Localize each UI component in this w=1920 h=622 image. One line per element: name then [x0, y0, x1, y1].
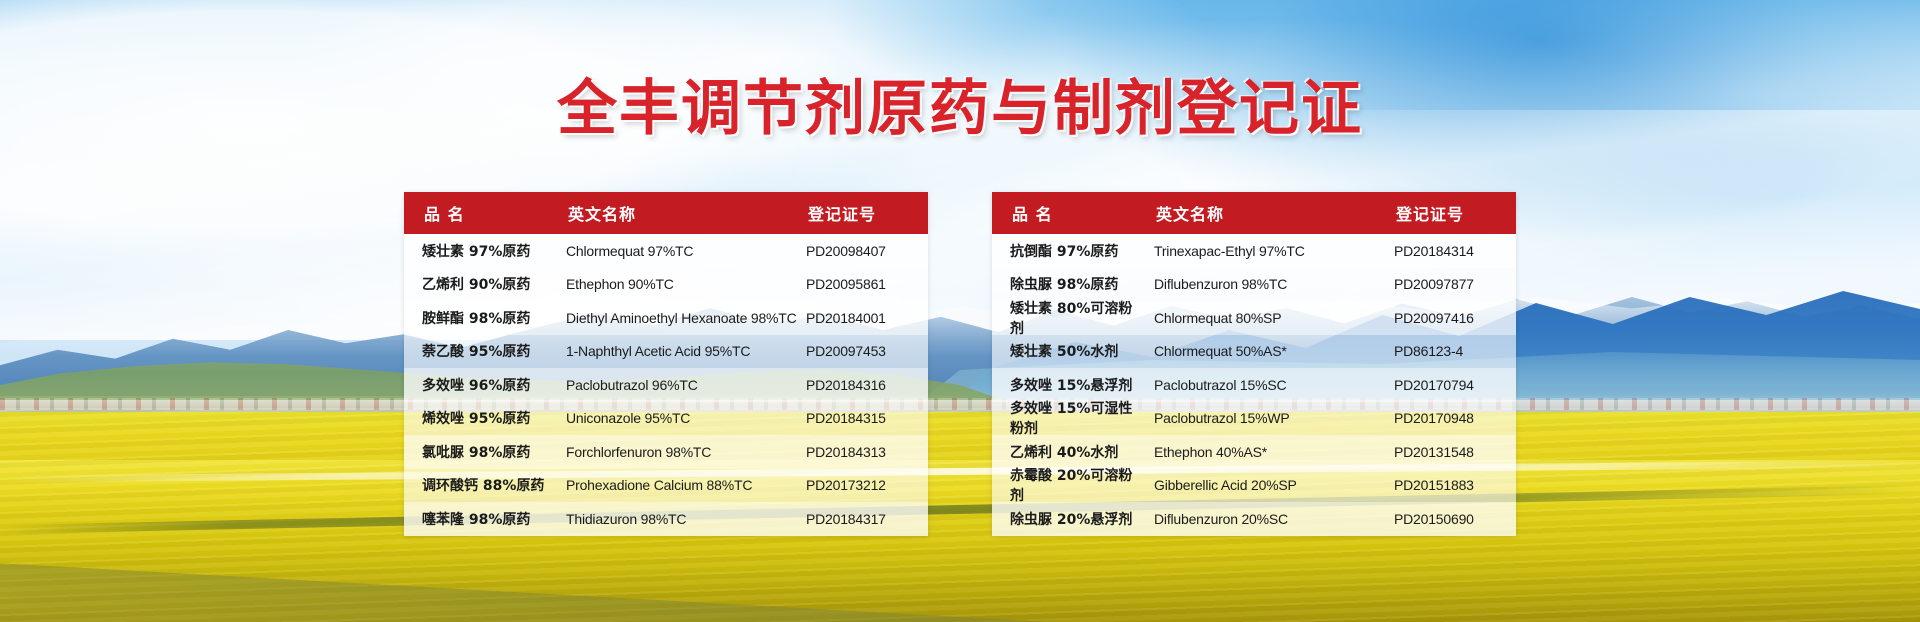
table-row: 赤霉酸 20%可溶粉剂Gibberellic Acid 20%SPPD20151… — [992, 469, 1516, 503]
cell-registration-no: PD20170948 — [1388, 410, 1516, 426]
cell-english-name: Ethephon 90%TC — [556, 276, 800, 292]
cell-registration-no: PD20173212 — [800, 477, 928, 493]
cell-product-name: 乙烯利 90%原药 — [404, 274, 556, 294]
table-row: 乙烯利 40%水剂Ethephon 40%AS*PD20131548 — [992, 435, 1516, 469]
column-header-name: 品 名 — [992, 201, 1144, 225]
cell-registration-no: PD86123-4 — [1388, 343, 1516, 359]
cell-registration-no: PD20131548 — [1388, 444, 1516, 460]
cell-registration-no: PD20184316 — [800, 377, 928, 393]
cell-product-name: 胺鲜酯 98%原药 — [404, 308, 556, 328]
cell-registration-no: PD20098407 — [800, 243, 928, 259]
table-row: 多效唑 96%原药Paclobutrazol 96%TCPD20184316 — [404, 368, 928, 402]
cell-product-name: 除虫脲 98%原药 — [992, 274, 1144, 294]
table-row: 烯效唑 95%原药Uniconazole 95%TCPD20184315 — [404, 402, 928, 436]
cell-product-name: 除虫脲 20%悬浮剂 — [992, 509, 1144, 529]
cell-product-name: 萘乙酸 95%原药 — [404, 341, 556, 361]
cell-registration-no: PD20170794 — [1388, 377, 1516, 393]
cell-english-name: Ethephon 40%AS* — [1144, 444, 1388, 460]
cell-registration-no: PD20150690 — [1388, 511, 1516, 527]
cell-product-name: 矮壮素 97%原药 — [404, 241, 556, 261]
cell-english-name: Diflubenzuron 20%SC — [1144, 511, 1388, 527]
table-row: 除虫脲 20%悬浮剂Diflubenzuron 20%SCPD20150690 — [992, 502, 1516, 536]
column-header-registration: 登记证号 — [1388, 201, 1516, 225]
left-table-header-row: 品 名 英文名称 登记证号 — [404, 192, 928, 234]
cell-english-name: 1-Naphthyl Acetic Acid 95%TC — [556, 343, 800, 359]
cell-english-name: Thidiazuron 98%TC — [556, 511, 800, 527]
banner-stage: 全丰调节剂原药与制剂登记证 品 名 英文名称 登记证号 矮壮素 97%原药Chl… — [0, 0, 1920, 622]
column-header-registration: 登记证号 — [800, 201, 928, 225]
cell-registration-no: PD20184313 — [800, 444, 928, 460]
cell-english-name: Chlormequat 80%SP — [1144, 310, 1388, 326]
cell-registration-no: PD20184317 — [800, 511, 928, 527]
cell-product-name: 调环酸钙 88%原药 — [404, 475, 556, 495]
table-row: 噻苯隆 98%原药Thidiazuron 98%TCPD20184317 — [404, 502, 928, 536]
cell-english-name: Paclobutrazol 96%TC — [556, 377, 800, 393]
cell-english-name: Chlormequat 50%AS* — [1144, 343, 1388, 359]
table-row: 乙烯利 90%原药Ethephon 90%TCPD20095861 — [404, 268, 928, 302]
table-row: 除虫脲 98%原药Diflubenzuron 98%TCPD20097877 — [992, 268, 1516, 302]
right-table-body: 抗倒酯 97%原药Trinexapac-Ethyl 97%TCPD2018431… — [992, 234, 1516, 536]
table-row: 氯吡脲 98%原药Forchlorfenuron 98%TCPD20184313 — [404, 435, 928, 469]
left-table-body: 矮壮素 97%原药Chlormequat 97%TCPD20098407乙烯利 … — [404, 234, 928, 536]
table-row: 矮壮素 50%水剂Chlormequat 50%AS*PD86123-4 — [992, 335, 1516, 369]
certificate-tables: 品 名 英文名称 登记证号 矮壮素 97%原药Chlormequat 97%TC… — [404, 192, 1516, 536]
cell-product-name: 多效唑 15%悬浮剂 — [992, 375, 1144, 395]
cell-english-name: Trinexapac-Ethyl 97%TC — [1144, 243, 1388, 259]
cell-english-name: Diethyl Aminoethyl Hexanoate 98%TC — [556, 310, 800, 326]
table-row: 矮壮素 97%原药Chlormequat 97%TCPD20098407 — [404, 234, 928, 268]
cell-product-name: 烯效唑 95%原药 — [404, 408, 556, 428]
cell-registration-no: PD20097877 — [1388, 276, 1516, 292]
table-row: 多效唑 15%悬浮剂Paclobutrazol 15%SCPD20170794 — [992, 368, 1516, 402]
right-certificate-table: 品 名 英文名称 登记证号 抗倒酯 97%原药Trinexapac-Ethyl … — [992, 192, 1516, 536]
cell-english-name: Diflubenzuron 98%TC — [1144, 276, 1388, 292]
cell-product-name: 赤霉酸 20%可溶粉剂 — [992, 465, 1144, 505]
right-table-header-row: 品 名 英文名称 登记证号 — [992, 192, 1516, 234]
cell-english-name: Forchlorfenuron 98%TC — [556, 444, 800, 460]
cell-registration-no: PD20184314 — [1388, 243, 1516, 259]
cell-english-name: Paclobutrazol 15%WP — [1144, 410, 1388, 426]
cell-registration-no: PD20095861 — [800, 276, 928, 292]
cell-product-name: 矮壮素 80%可溶粉剂 — [992, 298, 1144, 338]
cell-registration-no: PD20151883 — [1388, 477, 1516, 493]
column-header-english: 英文名称 — [1144, 201, 1388, 225]
cell-product-name: 乙烯利 40%水剂 — [992, 442, 1144, 462]
cell-registration-no: PD20184001 — [800, 310, 928, 326]
cell-english-name: Prohexadione Calcium 88%TC — [556, 477, 800, 493]
cell-product-name: 抗倒酯 97%原药 — [992, 241, 1144, 261]
left-certificate-table: 品 名 英文名称 登记证号 矮壮素 97%原药Chlormequat 97%TC… — [404, 192, 928, 536]
cell-product-name: 多效唑 96%原药 — [404, 375, 556, 395]
cell-product-name: 噻苯隆 98%原药 — [404, 509, 556, 529]
cell-product-name: 多效唑 15%可湿性粉剂 — [992, 398, 1144, 438]
table-row: 调环酸钙 88%原药Prohexadione Calcium 88%TCPD20… — [404, 469, 928, 503]
table-row: 矮壮素 80%可溶粉剂Chlormequat 80%SPPD20097416 — [992, 301, 1516, 335]
table-row: 多效唑 15%可湿性粉剂Paclobutrazol 15%WPPD2017094… — [992, 402, 1516, 436]
cell-english-name: Uniconazole 95%TC — [556, 410, 800, 426]
cell-product-name: 矮壮素 50%水剂 — [992, 341, 1144, 361]
column-header-name: 品 名 — [404, 201, 556, 225]
table-row: 胺鲜酯 98%原药Diethyl Aminoethyl Hexanoate 98… — [404, 301, 928, 335]
page-title: 全丰调节剂原药与制剂登记证 — [0, 60, 1920, 147]
cell-registration-no: PD20097416 — [1388, 310, 1516, 326]
cell-registration-no: PD20184315 — [800, 410, 928, 426]
table-row: 萘乙酸 95%原药1-Naphthyl Acetic Acid 95%TCPD2… — [404, 335, 928, 369]
cell-product-name: 氯吡脲 98%原药 — [404, 442, 556, 462]
cell-english-name: Chlormequat 97%TC — [556, 243, 800, 259]
table-row: 抗倒酯 97%原药Trinexapac-Ethyl 97%TCPD2018431… — [992, 234, 1516, 268]
column-header-english: 英文名称 — [556, 201, 800, 225]
cell-english-name: Paclobutrazol 15%SC — [1144, 377, 1388, 393]
cell-english-name: Gibberellic Acid 20%SP — [1144, 477, 1388, 493]
cell-registration-no: PD20097453 — [800, 343, 928, 359]
